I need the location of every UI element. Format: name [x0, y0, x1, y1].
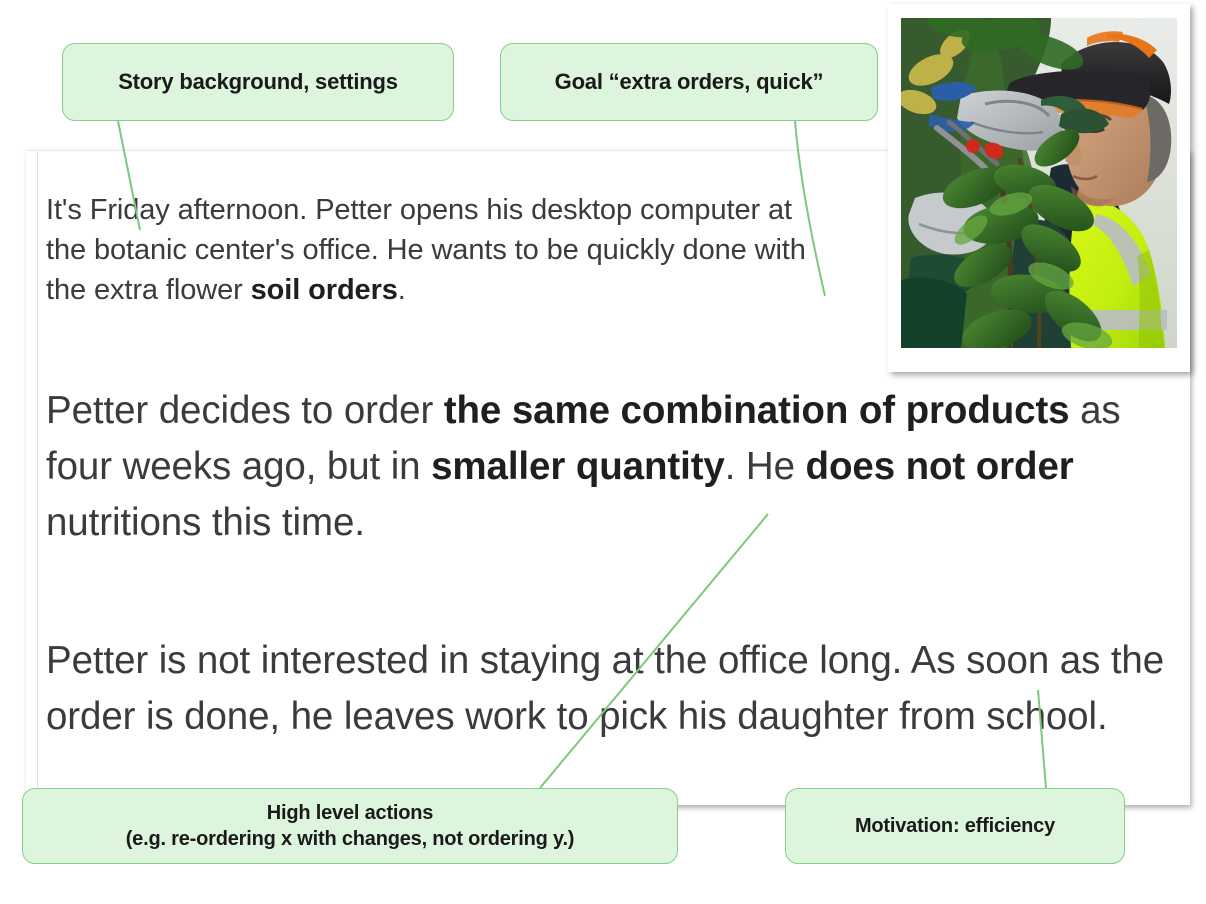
callout-story-background-label: Story background, settings: [63, 69, 453, 95]
paragraph-2-text-c: . He: [725, 445, 806, 488]
slide-canvas: It's Friday afternoon. Petter opens his …: [0, 0, 1206, 904]
paragraph-1-bold-soil-orders: soil orders: [251, 274, 398, 306]
paragraph-1-text-a: It's Friday afternoon. Petter opens his …: [46, 194, 806, 306]
paragraph-2-bold-smaller-quantity: smaller quantity: [431, 445, 725, 488]
callout-goal-label: Goal “extra orders, quick”: [501, 69, 877, 95]
paragraph-1-text-b: .: [398, 274, 406, 306]
callout-high-level-actions-line2: (e.g. re-ordering x with changes, not or…: [23, 826, 677, 852]
story-paragraph-3: Petter is not interested in staying at t…: [46, 589, 1171, 745]
paragraph-2-text-a: Petter decides to order: [46, 389, 444, 432]
callout-motivation[interactable]: Motivation: efficiency: [785, 788, 1125, 864]
paragraph-2-text-d: nutritions this time.: [46, 501, 365, 544]
gardener-photo: [901, 18, 1177, 348]
paragraph-2-bold-does-not-order: does not order: [806, 445, 1074, 488]
callout-story-background[interactable]: Story background, settings: [62, 43, 454, 121]
card-left-rule: [37, 152, 38, 804]
callout-high-level-actions-line1: High level actions: [23, 800, 677, 826]
paragraph-2-bold-same-combination: the same combination of products: [444, 389, 1070, 432]
gardener-photo-frame: [888, 4, 1190, 372]
gardener-photo-image: [901, 18, 1177, 348]
callout-motivation-label: Motivation: efficiency: [786, 815, 1124, 838]
story-paragraph-1: It's Friday afternoon. Petter opens his …: [46, 164, 836, 310]
story-paragraph-2: Petter decides to order the same combina…: [46, 349, 1171, 551]
callout-high-level-actions[interactable]: High level actions (e.g. re-ordering x w…: [22, 788, 678, 864]
callout-goal[interactable]: Goal “extra orders, quick”: [500, 43, 878, 121]
